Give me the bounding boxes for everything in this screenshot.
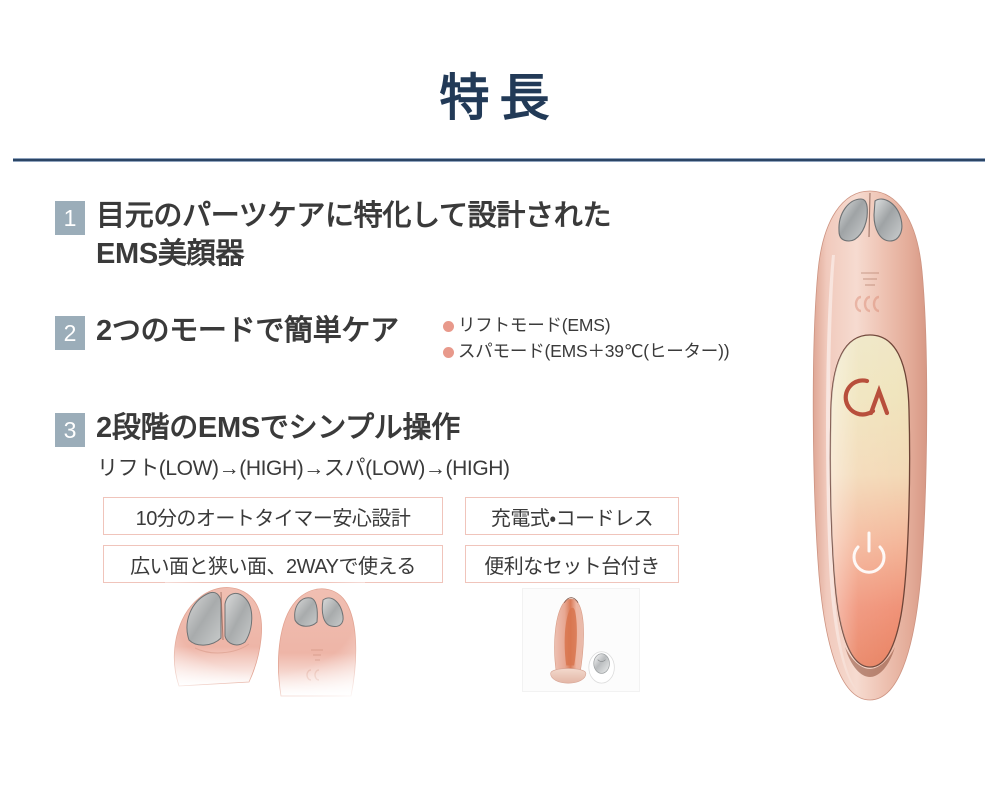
mode-label-spa: スパモード(EMS＋39℃(ヒーター)) [458,339,729,365]
feature-number-badge-2: 2 [55,316,85,350]
feature-heading-2: 2つのモードで簡単ケア [96,313,399,351]
feature-item-2: 2 2つのモードで簡単ケア [55,313,399,351]
feature-heading-1: 目元のパーツケアに特化して設計された EMS美顔器 [96,198,611,273]
step-sequence-text: リフト(LOW)→(HIGH)→スパ(LOW)→(HIGH) [97,452,510,482]
feature-number-badge-1: 1 [55,201,85,235]
feature-item-3: 3 2段階のEMSでシンプル操作 [55,410,460,448]
bullet-dot-icon [443,321,454,332]
feature-item-1: 1 目元のパーツケアに特化して設計された EMS美顔器 [55,198,611,273]
feature-heading-3: 2段階のEMSでシンプル操作 [96,410,460,448]
spec-box-timer: 10分のオートタイマー安心設計 [103,497,443,535]
device-on-stand-photo [522,588,640,692]
mode-item-lift: リフトモード(EMS) [443,313,729,339]
feature-page: 特長 1 目元のパーツケアに特化して設計された EMS美顔器 2 2つのモードで… [0,0,999,805]
main-device-photo [805,185,935,710]
mode-item-spa: スパモード(EMS＋39℃(ヒーター)) [443,339,729,365]
feature-number-badge-3: 3 [55,413,85,447]
bullet-dot-icon [443,347,454,358]
title-divider [13,158,985,162]
mode-label-lift: リフトモード(EMS) [458,313,610,339]
page-title: 特長 [0,72,999,125]
device-tip-illustrations [165,578,365,698]
mode-list: リフトモード(EMS) スパモード(EMS＋39℃(ヒーター)) [443,313,729,365]
spec-box-grid: 10分のオートタイマー安心設計 充電式・コードレス 広い面と狭い面、2WAYで使… [103,497,679,583]
spec-box-cordless: 充電式・コードレス [465,497,679,535]
spec-box-stand: 便利なセット台付き [465,545,679,583]
